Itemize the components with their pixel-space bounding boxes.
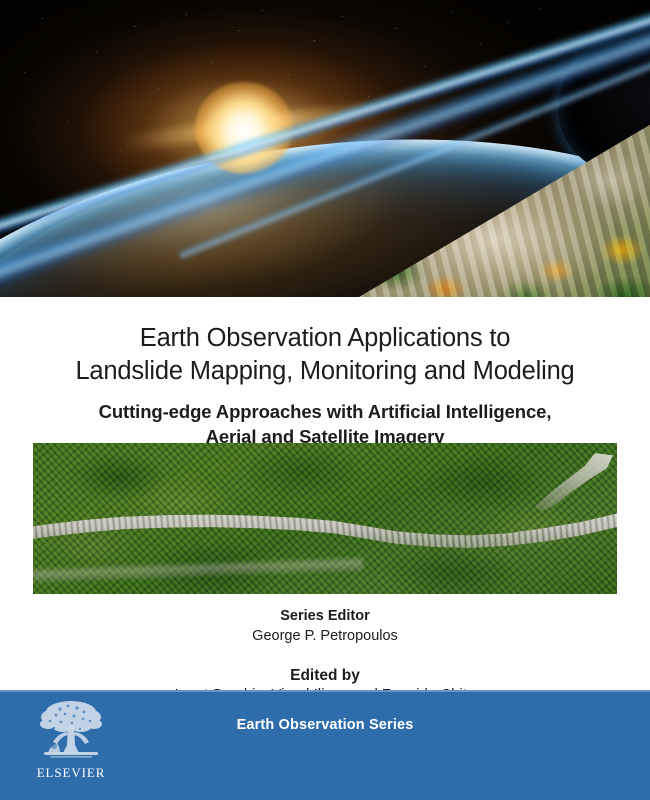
- header-bottom-edge: [0, 297, 650, 301]
- band-top-hairline: [0, 690, 650, 692]
- title-line-1: Earth Observation Applications to: [140, 324, 510, 352]
- subtitle-line-1: Cutting-edge Approaches with Artificial …: [99, 401, 552, 422]
- page-subtitle: Cutting-edge Approaches with Artificial …: [0, 399, 650, 449]
- edited-by-label: Edited by: [0, 666, 650, 685]
- book-cover: Earth Observation Applications to Landsl…: [0, 0, 650, 800]
- center-landslide-photo: [33, 443, 617, 594]
- elsevier-logo: ELSEVIER: [30, 699, 112, 787]
- series-editor-name: George P. Petropoulos: [0, 626, 650, 646]
- title-block: Earth Observation Applications to Landsl…: [0, 322, 650, 449]
- series-editor-group: Series Editor George P. Petropoulos: [0, 607, 650, 646]
- title-line-2: Landslide Mapping, Monitoring and Modeli…: [75, 357, 574, 385]
- header-space-artwork: [0, 0, 650, 301]
- page-title: Earth Observation Applications to Landsl…: [0, 322, 650, 388]
- elsevier-wordmark: ELSEVIER: [30, 765, 112, 781]
- publisher-band: ELSEVIER Earth Observation Series: [0, 690, 650, 800]
- series-editor-label: Series Editor: [0, 607, 650, 626]
- series-name: Earth Observation Series: [0, 717, 650, 733]
